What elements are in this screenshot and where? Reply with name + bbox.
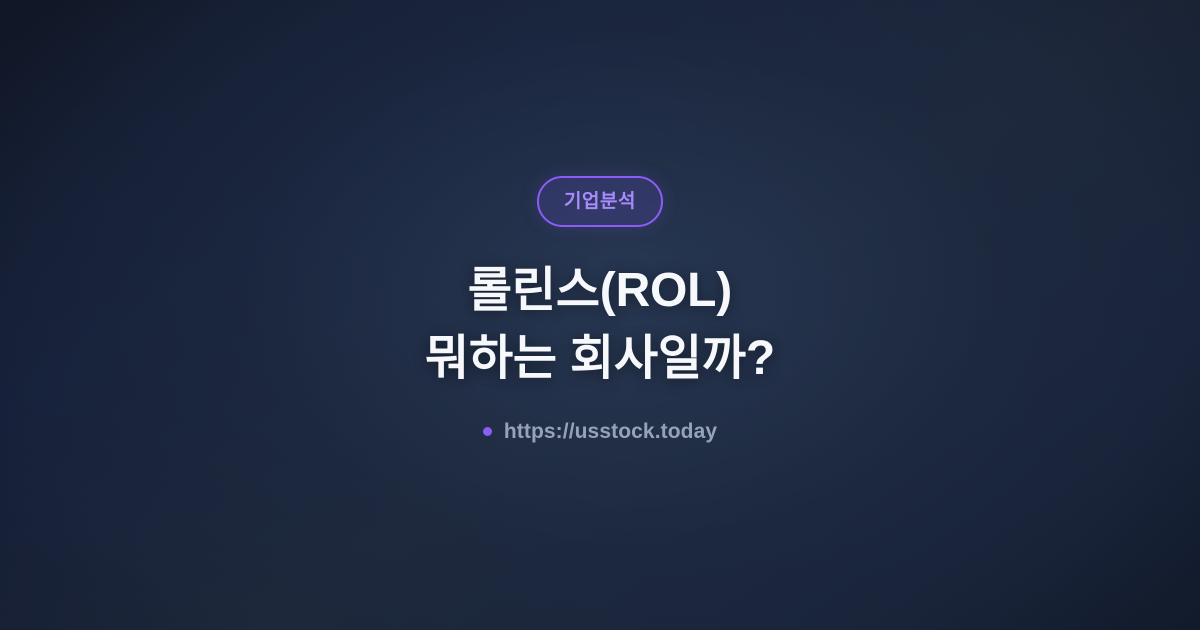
category-badge: 기업분석	[537, 176, 663, 227]
page-title: 롤린스(ROL) 뭐하는 회사일까?	[425, 257, 775, 393]
site-url-text: https://usstock.today	[504, 421, 717, 442]
page-title-line-1: 롤린스(ROL)	[425, 257, 775, 325]
site-url-footer: https://usstock.today	[483, 421, 717, 442]
card-content: 기업분석 롤린스(ROL) 뭐하는 회사일까? https://usstock.…	[0, 176, 1200, 442]
page-title-line-2: 뭐하는 회사일까?	[425, 325, 775, 393]
og-share-card: 기업분석 롤린스(ROL) 뭐하는 회사일까? https://usstock.…	[0, 0, 1200, 630]
bullet-dot-icon	[483, 427, 492, 436]
